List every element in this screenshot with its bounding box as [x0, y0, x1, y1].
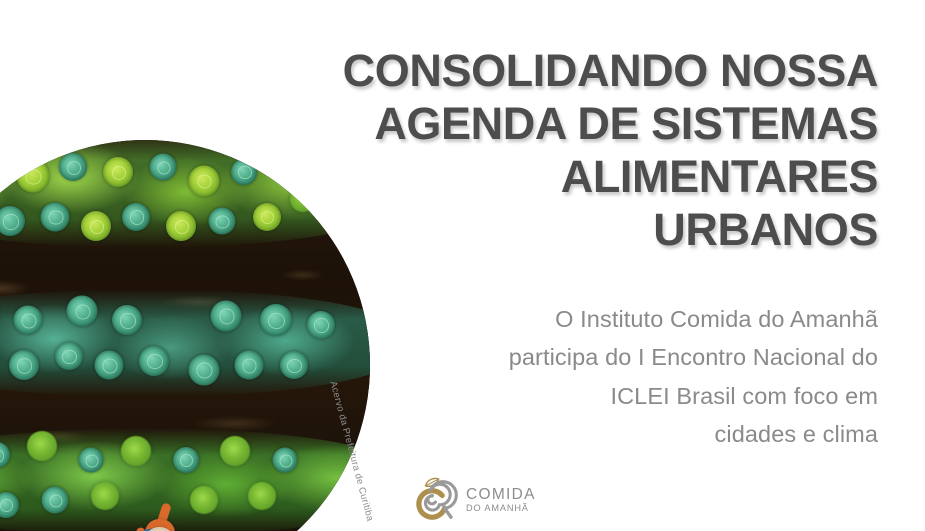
lettuce-head [27, 431, 57, 461]
lettuce-head [121, 436, 151, 466]
logo-subname: DO AMANHÃ [466, 504, 536, 513]
cabbage-head [67, 296, 98, 327]
cabbage-head [150, 154, 177, 181]
cabbage-head [59, 153, 87, 181]
slide-canvas: Acervo da Prefeitura de Curitiba CONSOLI… [0, 0, 925, 531]
cabbage-head [208, 208, 235, 235]
lettuce-head [166, 211, 196, 241]
lettuce-head [91, 482, 119, 510]
title-line-1: CONSOLIDANDO NOSSA [270, 44, 878, 97]
title-line-3: ALIMENTARES [270, 150, 878, 203]
subtitle-line-2: participa do I Encontro Nacional do [270, 338, 878, 376]
title-line-2: AGENDA DE SISTEMAS [270, 97, 878, 150]
cabbage-head [42, 487, 69, 514]
text-column: CONSOLIDANDO NOSSA AGENDA DE SISTEMAS AL… [270, 0, 878, 531]
cabbage-head [234, 351, 263, 380]
cabbage-head [231, 159, 257, 185]
cabbage-head [9, 350, 39, 380]
page-title: CONSOLIDANDO NOSSA AGENDA DE SISTEMAS AL… [270, 0, 878, 256]
page-subtitle: O Instituto Comida do Amanhã participa d… [270, 256, 878, 452]
lettuce-head [188, 165, 219, 196]
logo-wordmark: COMIDA DO AMANHÃ [466, 487, 536, 514]
cabbage-head [173, 447, 199, 473]
snail-spiral-leaf-icon [411, 475, 459, 525]
cabbage-head [95, 351, 124, 380]
subtitle-line-4: cidades e clima [270, 415, 878, 453]
lettuce-head [16, 160, 49, 193]
cabbage-head [188, 354, 219, 385]
cabbage-head [112, 305, 142, 335]
subtitle-line-1: O Instituto Comida do Amanhã [270, 300, 878, 338]
cabbage-head [211, 300, 242, 331]
lettuce-head [103, 157, 133, 187]
cabbage-head [139, 346, 169, 376]
subtitle-line-3: ICLEI Brasil com foco em [270, 377, 878, 415]
logo-name: COMIDA [466, 487, 536, 503]
title-line-4: URBANOS [270, 203, 878, 256]
cabbage-head [41, 202, 70, 231]
cabbage-head [122, 203, 150, 231]
cabbage-head [55, 342, 83, 370]
comida-do-amanha-logo: COMIDA DO AMANHÃ [411, 475, 536, 525]
lettuce-head [190, 486, 218, 514]
lettuce-head [220, 436, 250, 466]
cabbage-head [79, 447, 104, 472]
gardener-figure [131, 501, 187, 531]
cabbage-head [14, 306, 43, 335]
lettuce-head [81, 211, 111, 241]
